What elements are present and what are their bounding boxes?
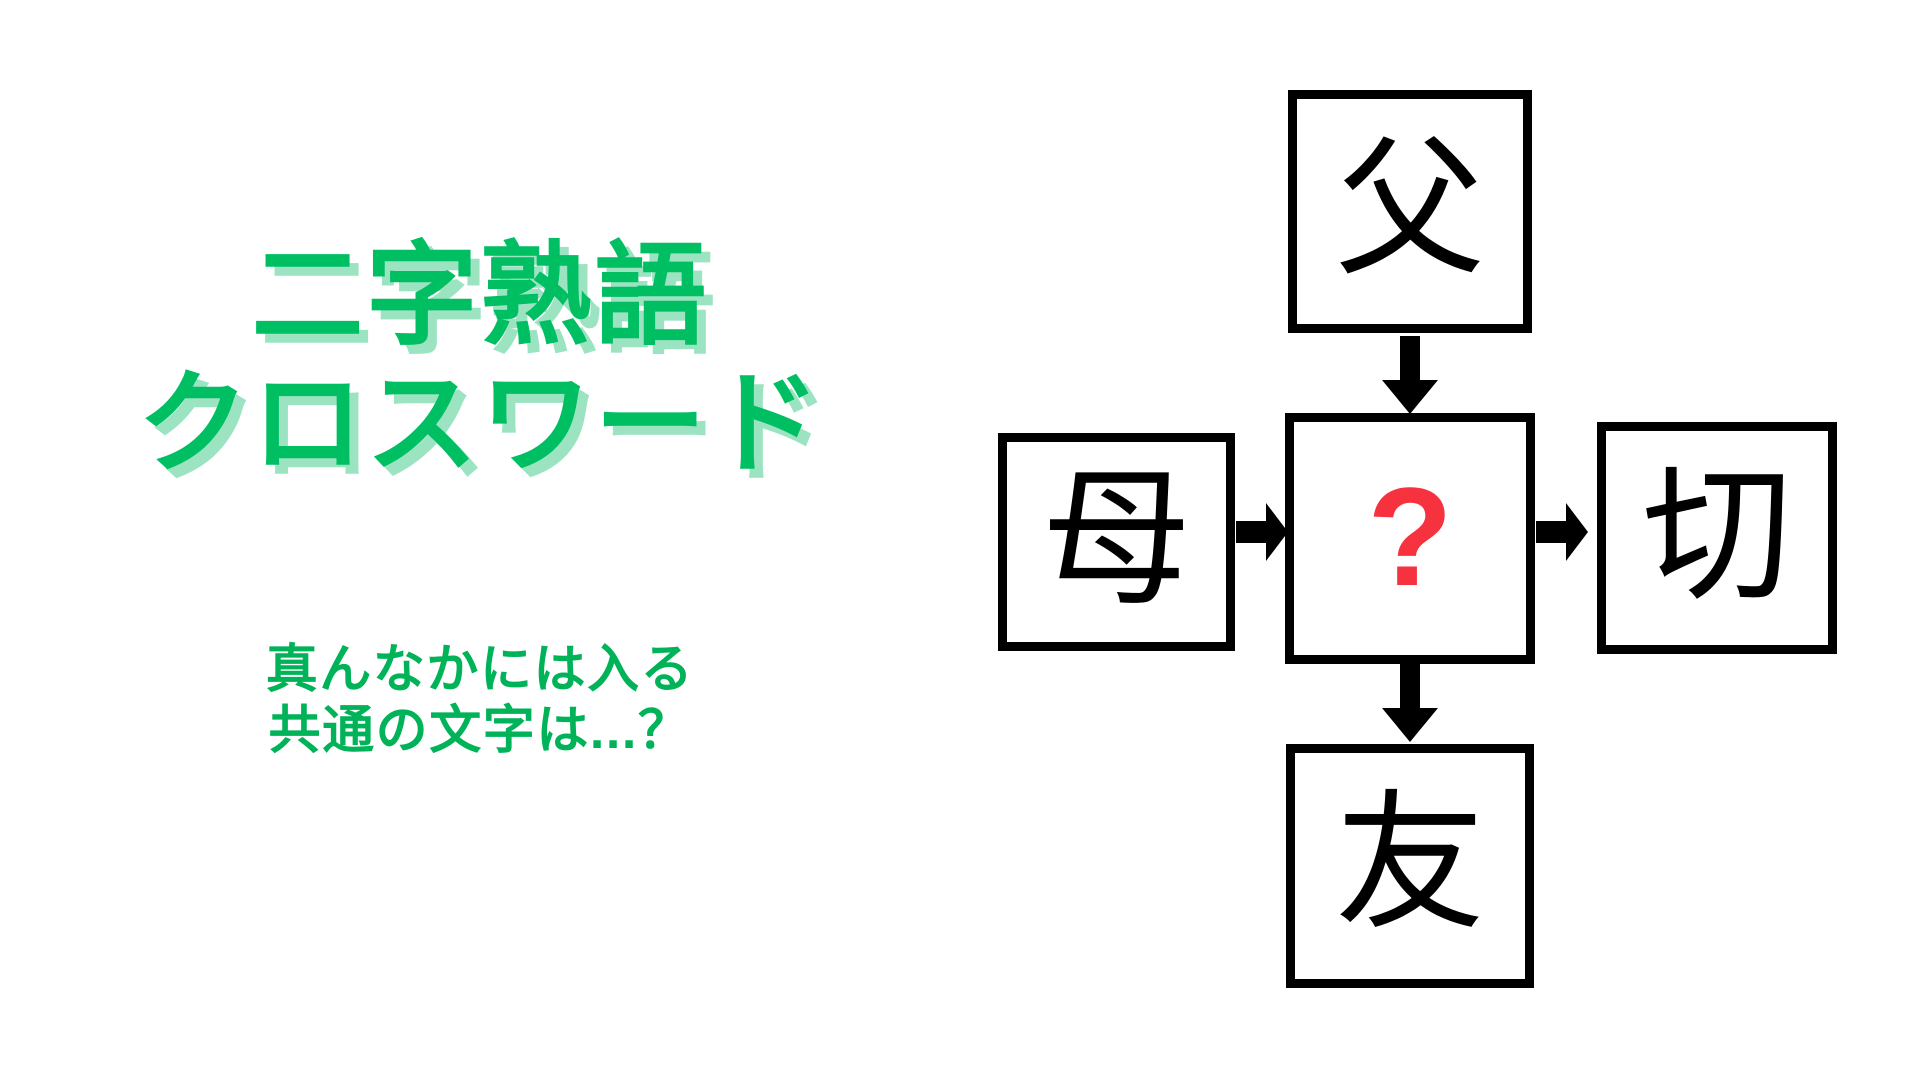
grid-cell-right[interactable]: 切 <box>1597 422 1837 654</box>
arrow-right-icon-center <box>1536 500 1588 564</box>
grid-cell-center-glyph: ? <box>1367 467 1453 607</box>
arrow-right-icon-left <box>1236 500 1288 564</box>
arrow-down-icon-bottom <box>1378 664 1442 742</box>
grid-cell-left[interactable]: 母 <box>998 433 1235 651</box>
title-line-2: クロスワード <box>0 368 960 480</box>
grid-cell-bottom-glyph: 友 <box>1335 789 1485 939</box>
title-line-1: 二字熟語 <box>0 240 960 352</box>
grid-cell-right-glyph: 切 <box>1642 461 1792 611</box>
crossword-grid: 父 母 ? 切 <box>960 0 1920 1080</box>
title-block: 二字熟語 クロスワード <box>0 240 960 480</box>
grid-cell-top-glyph: 父 <box>1335 135 1485 285</box>
subtitle-block: 真んなかには入る 共通の文字は...？ <box>0 640 960 763</box>
puzzle-slide: 二字熟語 クロスワード 真んなかには入る 共通の文字は...？ 父 母 <box>0 0 1920 1080</box>
subtitle-line-2: 共通の文字は...？ <box>0 701 960 762</box>
grid-cell-left-glyph: 母 <box>1041 465 1191 615</box>
grid-cell-bottom[interactable]: 友 <box>1286 744 1534 988</box>
grid-cell-top[interactable]: 父 <box>1288 90 1532 333</box>
subtitle-line-1: 真んなかには入る <box>0 640 960 701</box>
arrow-down-icon-top <box>1378 336 1442 414</box>
grid-cell-center-unknown[interactable]: ? <box>1285 413 1535 664</box>
